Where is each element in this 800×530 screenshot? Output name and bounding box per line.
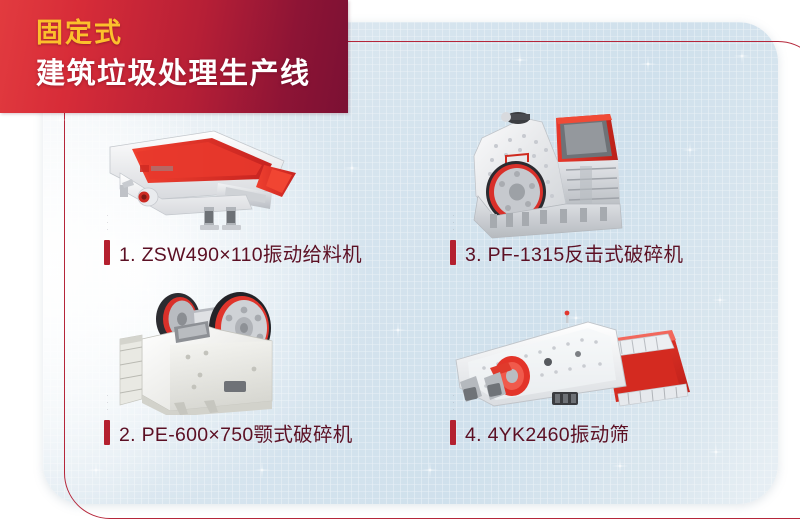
equipment-label-4-text: 4. 4YK2460振动筛 (465, 418, 629, 447)
equipment-label-2-text: 2. PE-600×750颚式破碎机 (119, 418, 353, 447)
banner-title-secondary: 建筑垃圾处理生产线 (36, 54, 311, 94)
label-marker-icon (450, 420, 456, 445)
poster-canvas: 1. ZSW490×110振动给料机 (0, 0, 800, 530)
dot-divider (452, 392, 455, 414)
vibrating-feeder-photo (96, 125, 386, 235)
dot-divider (452, 212, 455, 234)
label-marker-icon (450, 240, 456, 265)
jaw-crusher-photo (112, 283, 347, 415)
equipment-label-3: 3. PF-1315反击式破碎机 (450, 238, 683, 267)
vibrating-screen-photo (450, 296, 700, 418)
header-banner: 固定式 建筑垃圾处理生产线 (0, 0, 348, 113)
equipment-label-3-text: 3. PF-1315反击式破碎机 (465, 238, 683, 267)
impact-crusher-photo (448, 100, 668, 240)
equipment-label-4: 4. 4YK2460振动筛 (450, 418, 629, 447)
equipment-label-1: 1. ZSW490×110振动给料机 (104, 238, 362, 267)
label-marker-icon (104, 420, 110, 445)
equipment-label-1-text: 1. ZSW490×110振动给料机 (119, 238, 362, 267)
dot-divider (106, 392, 109, 414)
label-marker-icon (104, 240, 110, 265)
banner-text-group: 固定式 建筑垃圾处理生产线 (36, 16, 311, 94)
dot-divider (106, 212, 109, 234)
banner-title-primary: 固定式 (36, 16, 311, 50)
equipment-label-2: 2. PE-600×750颚式破碎机 (104, 418, 353, 447)
